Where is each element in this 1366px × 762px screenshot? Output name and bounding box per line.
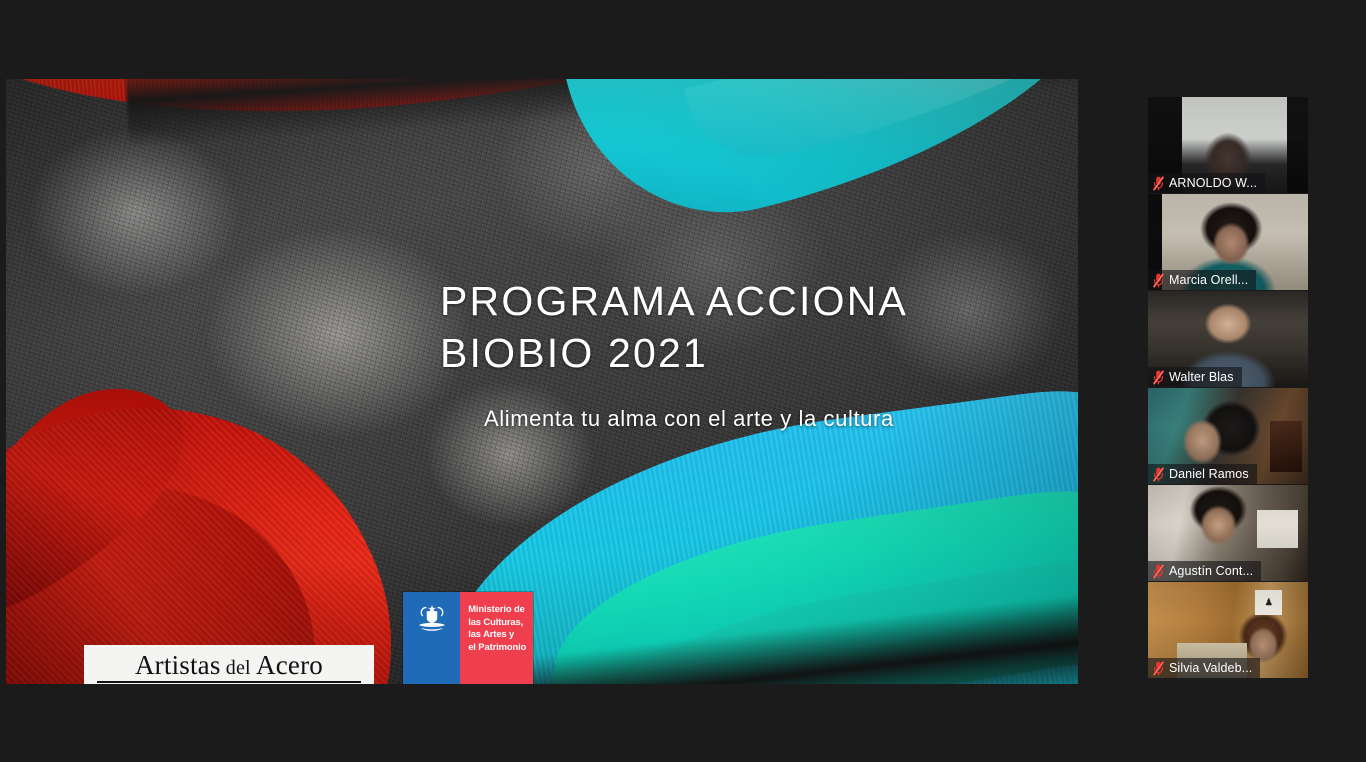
participant-name-label: Daniel Ramos (1169, 467, 1249, 481)
slide-vignette (6, 79, 1078, 684)
slide-subtitle: Alimenta tu alma con el arte y la cultur… (484, 406, 894, 432)
video-call-screen: PROGRAMA ACCIONA BIOBIO 2021 Alimenta tu… (0, 0, 1366, 762)
participant-name-label: Silvia Valdeb... (1169, 661, 1252, 675)
participant-name-bar: Daniel Ramos (1148, 464, 1257, 484)
microphone-muted-icon (1153, 467, 1164, 482)
microphone-muted-icon (1153, 176, 1164, 191)
participant-tile[interactable]: Walter Blas (1148, 291, 1308, 387)
participant-tile[interactable]: ARNOLDO W... (1148, 97, 1308, 193)
participant-filmstrip[interactable]: ARNOLDO W...Marcia Orell...Walter BlasDa… (1148, 97, 1308, 679)
participant-tile[interactable]: ♟Silvia Valdeb... (1148, 582, 1308, 678)
participant-name-bar: ARNOLDO W... (1148, 173, 1265, 193)
participant-name-bar: Silvia Valdeb... (1148, 658, 1260, 678)
acero-word-del: del (226, 657, 251, 679)
microphone-muted-icon (1153, 661, 1164, 676)
acero-logo-divider (97, 681, 361, 683)
participant-tile[interactable]: Marcia Orell... (1148, 194, 1308, 290)
chile-coat-of-arms-icon (413, 603, 451, 635)
ministerio-culturas-logo: Ministerio de las Culturas, las Artes y … (403, 592, 533, 684)
microphone-muted-icon (1153, 564, 1164, 579)
participant-name-bar: Marcia Orell... (1148, 270, 1256, 290)
slide-title: PROGRAMA ACCIONA BIOBIO 2021 (440, 275, 1060, 380)
acero-logo-wordmark: Artistas del Acero (135, 652, 323, 679)
microphone-muted-icon (1153, 370, 1164, 385)
ministerio-logo-red-panel: Ministerio de las Culturas, las Artes y … (460, 592, 533, 684)
participant-name-label: Walter Blas (1169, 370, 1234, 384)
participant-name-bar: Walter Blas (1148, 367, 1242, 387)
participant-name-label: ARNOLDO W... (1169, 176, 1257, 190)
ministerio-logo-blue-panel (403, 592, 460, 684)
shared-screen-slide[interactable]: PROGRAMA ACCIONA BIOBIO 2021 Alimenta tu… (6, 79, 1078, 684)
participant-tile[interactable]: Agustín Cont... (1148, 485, 1308, 581)
artistas-del-acero-logo: Artistas del Acero C o r p o r a c i ó n… (84, 645, 374, 684)
ministerio-logo-text: Ministerio de las Culturas, las Artes y … (468, 603, 527, 653)
participant-name-label: Marcia Orell... (1169, 273, 1248, 287)
acero-word-artistas: Artistas (135, 650, 221, 680)
participant-name-label: Agustín Cont... (1169, 564, 1253, 578)
microphone-muted-icon (1153, 273, 1164, 288)
participant-tile[interactable]: Daniel Ramos (1148, 388, 1308, 484)
acero-word-acero: Acero (256, 650, 323, 680)
participant-name-bar: Agustín Cont... (1148, 561, 1261, 581)
